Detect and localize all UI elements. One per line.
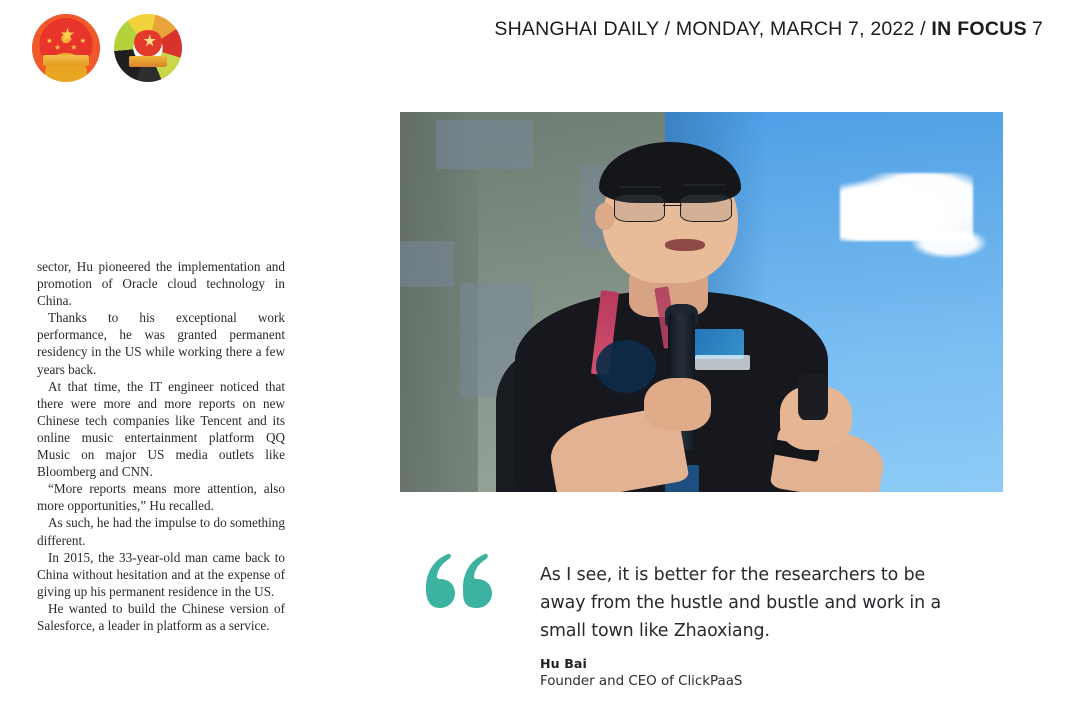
photo-mouth xyxy=(665,239,704,251)
photo-badge xyxy=(596,340,656,393)
masthead-separator-2: / xyxy=(915,18,932,40)
pull-quote-text: As I see, it is better for the researche… xyxy=(540,561,970,645)
emblem-star-cluster xyxy=(46,37,87,52)
article-paragraph: He wanted to build the Chinese version o… xyxy=(37,600,285,634)
article-body-column: sector, Hu pioneered the implementation … xyxy=(37,258,285,634)
quotation-mark-icon xyxy=(420,550,496,614)
photo-presentation-clicker xyxy=(798,374,828,420)
article-paragraph: As such, he had the impulse to do someth… xyxy=(37,514,285,548)
photo-ear xyxy=(595,203,614,230)
emblem-center-star xyxy=(143,34,156,47)
photo-wall-patch xyxy=(400,241,454,287)
page-number: 7 xyxy=(1032,18,1043,40)
photo-canvas xyxy=(400,112,1003,492)
photo-eyebrow xyxy=(683,184,725,186)
national-emblem-of-china-icon xyxy=(32,14,100,82)
feature-photograph xyxy=(400,112,1003,492)
page-masthead: SHANGHAI DAILY / MONDAY, MARCH 7, 2022 /… xyxy=(0,0,1079,96)
article-paragraph: At that time, the IT engineer noticed th… xyxy=(37,378,285,481)
publication-title: SHANGHAI DAILY xyxy=(494,18,659,40)
photo-eyeglasses xyxy=(614,194,732,221)
article-paragraph: sector, Hu pioneered the implementation … xyxy=(37,258,285,309)
photo-cloud-small xyxy=(907,226,991,260)
article-paragraph: Thanks to his exceptional work performan… xyxy=(37,309,285,377)
photo-hand-on-microphone xyxy=(644,378,710,431)
article-paragraph: In 2015, the 33-year-old man came back t… xyxy=(37,549,285,600)
photo-shirt-text xyxy=(695,355,749,370)
masthead-separator-1: / xyxy=(659,18,676,40)
cppcc-emblem-icon xyxy=(114,14,182,82)
pull-quote-attribution: Hu Bai Founder and CEO of ClickPaaS xyxy=(540,655,970,691)
attribution-role: Founder and CEO of ClickPaaS xyxy=(540,672,970,691)
masthead-headline: SHANGHAI DAILY / MONDAY, MARCH 7, 2022 /… xyxy=(494,18,1043,41)
photo-eyebrow xyxy=(620,186,662,188)
section-name: IN FOCUS xyxy=(931,18,1027,40)
article-paragraph: “More reports means more attention, also… xyxy=(37,480,285,514)
photo-wall-patch xyxy=(436,120,532,169)
issue-date: MONDAY, MARCH 7, 2022 xyxy=(676,18,915,40)
masthead-emblems xyxy=(32,14,182,82)
attribution-name: Hu Bai xyxy=(540,655,970,672)
